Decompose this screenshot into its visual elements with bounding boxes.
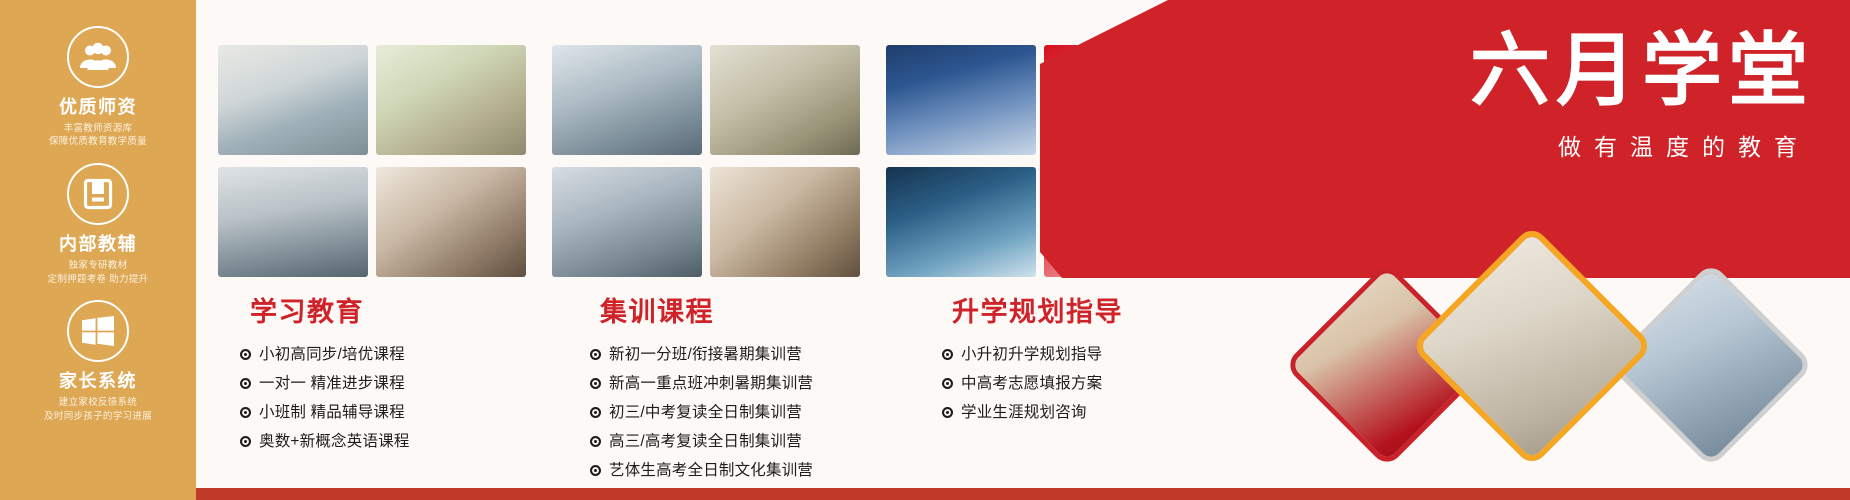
- course-label: 高三/高考复读全日制集训营: [609, 430, 802, 454]
- course-column-learning-education: 学习教育 小初高同步/培优课程 一对一 精准进步课程 小班制 精品辅导课程 奥数…: [240, 290, 580, 488]
- photo-tv-studio-interview: [886, 45, 1036, 155]
- photo-award-ceremony-group: [1044, 45, 1194, 155]
- bullet-icon: [240, 349, 251, 360]
- bullet-icon: [590, 378, 601, 389]
- sidebar-item-sub2: 保障优质教育教学质量: [49, 135, 147, 149]
- bottom-sidebar-extension: [0, 488, 196, 500]
- photo-stage-presentation-team: [1044, 167, 1194, 277]
- course-item: 新高一重点班冲刺暑期集训营: [590, 372, 930, 396]
- sidebar-item-parent-system: 家长系统 建立家校反馈系统 及时同步孩子的学习进展: [0, 300, 196, 423]
- diamond-photo-image: [1412, 232, 1652, 468]
- column-title: 升学规划指导: [952, 290, 1282, 329]
- photo-row: [218, 45, 526, 155]
- course-label: 中高考志愿填报方案: [961, 372, 1102, 396]
- course-item: 新初一分班/衔接暑期集训营: [590, 343, 930, 367]
- course-label: 一对一 精准进步课程: [259, 372, 405, 396]
- diamond-photo-image: [1608, 269, 1814, 468]
- bullet-icon: [240, 378, 251, 389]
- bullet-icon: [942, 378, 953, 389]
- promotional-banner: 学习教育 小初高同步/培优课程 一对一 精准进步课程 小班制 精品辅导课程 奥数…: [0, 0, 1850, 500]
- course-item: 高三/高考复读全日制集训营: [590, 430, 930, 454]
- course-column-intensive-training: 集训课程 新初一分班/衔接暑期集训营 新高一重点班冲刺暑期集训营 初三/中考复读…: [590, 290, 930, 488]
- windows-grid-icon: [67, 300, 129, 362]
- sidebar-item-sub1: 丰富教师资源库: [64, 122, 133, 136]
- photo-row: [552, 167, 860, 277]
- diamond-photo-classroom-logo: [1410, 224, 1653, 467]
- course-item: 学业生涯规划咨询: [942, 401, 1282, 425]
- photo-students-study-session: [710, 167, 860, 277]
- diamond-photo-cluster: [1308, 244, 1828, 474]
- course-item: 小班制 精品辅导课程: [240, 401, 580, 425]
- diamond-photo-study-hall: [1608, 262, 1814, 468]
- photo-grid: [218, 45, 1194, 277]
- course-list: 小升初升学规划指导 中高考志愿填报方案 学业生涯规划咨询: [942, 343, 1282, 425]
- photo-full-classroom-rear-view: [552, 45, 702, 155]
- sidebar-item-title: 家长系统: [59, 371, 137, 392]
- bullet-icon: [590, 407, 601, 418]
- course-label: 艺体生高考全日制文化集训营: [609, 459, 813, 483]
- photo-classroom-whiteboard-students: [218, 45, 368, 155]
- photo-teacher-projector-presentation: [376, 167, 526, 277]
- book-icon: [67, 163, 129, 225]
- photo-study-room-desks: [552, 167, 702, 277]
- course-item: 艺体生高考全日制文化集训营: [590, 459, 930, 483]
- sidebar-item-quality-teachers: 优质师资 丰富教师资源库 保障优质教育教学质量: [0, 26, 196, 149]
- brand-title: 六月学堂: [1470, 30, 1814, 112]
- photo-row: [218, 167, 526, 277]
- course-item: 一对一 精准进步课程: [240, 372, 580, 396]
- course-item: 小升初升学规划指导: [942, 343, 1282, 367]
- course-label: 新初一分班/衔接暑期集训营: [609, 343, 802, 367]
- photo-row: [886, 167, 1194, 277]
- course-label: 小升初升学规划指导: [961, 343, 1102, 367]
- bullet-icon: [942, 349, 953, 360]
- photo-group-intensive-training: [552, 45, 860, 277]
- sidebar-item-sub1: 独家专研教材: [69, 259, 128, 273]
- people-group-icon: [67, 26, 129, 88]
- sidebar-item-title: 内部教辅: [59, 234, 137, 255]
- course-list: 新初一分班/衔接暑期集训营 新高一重点班冲刺暑期集训营 初三/中考复读全日制集训…: [590, 343, 930, 483]
- course-item: 中高考志愿填报方案: [942, 372, 1282, 396]
- course-column-admission-planning: 升学规划指导 小升初升学规划指导 中高考志愿填报方案 学业生涯规划咨询: [942, 290, 1282, 488]
- course-label: 小初高同步/培优课程: [259, 343, 405, 367]
- column-title: 学习教育: [250, 290, 580, 329]
- sidebar-item-sub2: 及时同步孩子的学习进展: [44, 410, 152, 424]
- sidebar-item-sub1: 建立家校反馈系统: [59, 396, 137, 410]
- course-label: 奥数+新概念英语课程: [259, 430, 410, 454]
- photo-row: [886, 45, 1194, 155]
- course-columns: 学习教育 小初高同步/培优课程 一对一 精准进步课程 小班制 精品辅导课程 奥数…: [218, 290, 1282, 488]
- sidebar-item-sub2: 定制押题考卷 助力提升: [48, 273, 149, 287]
- bullet-icon: [590, 349, 601, 360]
- photo-group-learning-education: [218, 45, 526, 277]
- column-title: 集训课程: [600, 290, 930, 329]
- photo-group-admission-planning: [886, 45, 1194, 277]
- course-label: 初三/中考复读全日制集训营: [609, 401, 802, 425]
- photo-broadcast-screen-data: [886, 167, 1036, 277]
- brand-text-block: 六月学堂 做有温度的教育: [1470, 30, 1814, 162]
- bullet-icon: [240, 436, 251, 447]
- bullet-icon: [942, 407, 953, 418]
- feature-sidebar: 优质师资 丰富教师资源库 保障优质教育教学质量 内部教辅 独家专研教材 定制押题…: [0, 0, 196, 500]
- sidebar-item-title: 优质师资: [59, 97, 137, 118]
- photo-row: [552, 45, 860, 155]
- photo-lecture-hall-projector: [710, 45, 860, 155]
- course-item: 初三/中考复读全日制集训营: [590, 401, 930, 425]
- bullet-icon: [590, 436, 601, 447]
- brand-subtitle: 做有温度的教育: [1470, 128, 1814, 162]
- course-label: 学业生涯规划咨询: [961, 401, 1087, 425]
- photo-teacher-lecture-classroom: [376, 45, 526, 155]
- course-list: 小初高同步/培优课程 一对一 精准进步课程 小班制 精品辅导课程 奥数+新概念英…: [240, 343, 580, 454]
- bottom-accent-bar: [196, 488, 1850, 500]
- course-label: 新高一重点班冲刺暑期集训营: [609, 372, 813, 396]
- bullet-icon: [590, 465, 601, 476]
- sidebar-edge: [196, 0, 206, 500]
- sidebar-item-internal-materials: 内部教辅 独家专研教材 定制押题考卷 助力提升: [0, 163, 196, 286]
- photo-teacher-tutoring-student: [218, 167, 368, 277]
- course-item: 小初高同步/培优课程: [240, 343, 580, 367]
- course-label: 小班制 精品辅导课程: [259, 401, 405, 425]
- course-item: 奥数+新概念英语课程: [240, 430, 580, 454]
- bullet-icon: [240, 407, 251, 418]
